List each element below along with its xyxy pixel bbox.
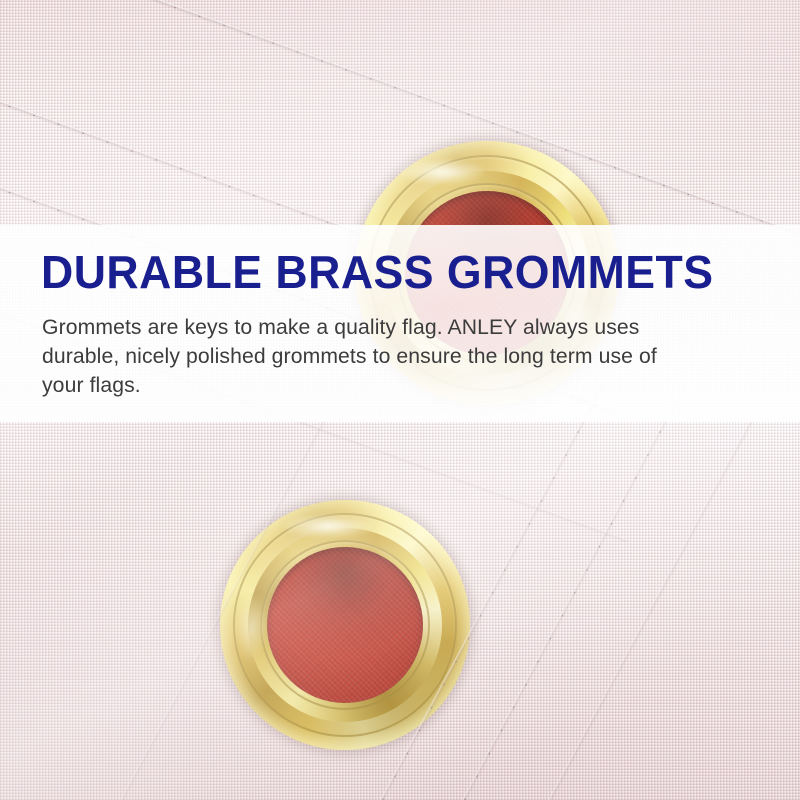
bottom-grommet bbox=[220, 500, 470, 750]
product-image-canvas: DURABLE BRASS GROMMETS Grommets are keys… bbox=[0, 0, 800, 800]
bottom-grommet-hole-shadow bbox=[267, 547, 423, 703]
bottom-grommet-specular-highlight bbox=[282, 514, 374, 538]
top-grommet-specular-highlight bbox=[399, 159, 485, 185]
bottom-grommet-specular-highlight-2 bbox=[236, 596, 266, 660]
description-text: Grommets are keys to make a quality flag… bbox=[42, 313, 682, 400]
page-title: DURABLE BRASS GROMMETS bbox=[41, 249, 714, 295]
